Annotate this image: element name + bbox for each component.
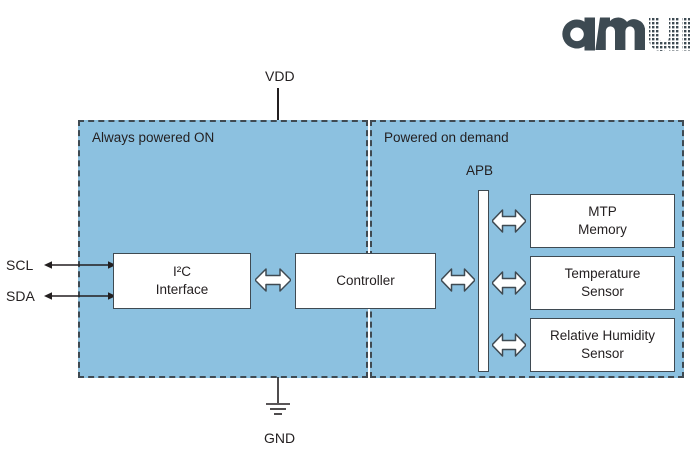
block-mtp-line1: MTP	[588, 204, 617, 219]
scl-bidirectional-arrow-icon	[44, 257, 116, 273]
pin-label-gnd: GND	[264, 430, 295, 446]
arrow-i2c-to-controller-icon	[255, 266, 291, 294]
pin-label-vdd: VDD	[265, 68, 295, 84]
vdd-connection-line	[277, 88, 279, 121]
arrow-controller-to-apb-icon	[441, 266, 475, 294]
block-controller-label: Controller	[336, 273, 395, 288]
diagram-canvas: VDD Always powered ON Powered on demand …	[0, 0, 700, 453]
apb-bus-bar	[478, 190, 489, 372]
ams-logo	[556, 6, 690, 52]
pin-label-scl: SCL	[6, 257, 33, 273]
block-relative-humidity-sensor: Relative Humidity Sensor	[530, 318, 675, 372]
arrow-apb-to-mtp-memory-icon	[492, 207, 526, 235]
block-temperature-sensor: Temperature Sensor	[530, 256, 675, 310]
region-always-powered-on: Always powered ON	[78, 120, 368, 378]
block-mtp-memory: MTP Memory	[530, 194, 675, 248]
apb-bus-label: APB	[466, 163, 493, 178]
sda-bidirectional-arrow-icon	[44, 288, 116, 304]
arrow-apb-to-humidity-sensor-icon	[492, 331, 526, 359]
region-label-always-on: Always powered ON	[92, 130, 214, 145]
block-i2c-line2: Interface	[156, 282, 209, 297]
block-controller: Controller	[295, 253, 436, 309]
pin-label-sda: SDA	[6, 288, 35, 304]
block-temp-line2: Sensor	[581, 284, 624, 299]
block-rh-line2: Sensor	[581, 346, 624, 361]
block-temp-line1: Temperature	[565, 266, 641, 281]
block-i2c-interface: I²C Interface	[113, 253, 251, 309]
block-mtp-line2: Memory	[578, 222, 627, 237]
region-label-on-demand: Powered on demand	[384, 130, 509, 145]
block-rh-line1: Relative Humidity	[550, 328, 655, 343]
block-i2c-line1: I²C	[173, 264, 191, 279]
gnd-symbol-icon	[258, 377, 298, 423]
arrow-apb-to-temperature-sensor-icon	[492, 269, 526, 297]
